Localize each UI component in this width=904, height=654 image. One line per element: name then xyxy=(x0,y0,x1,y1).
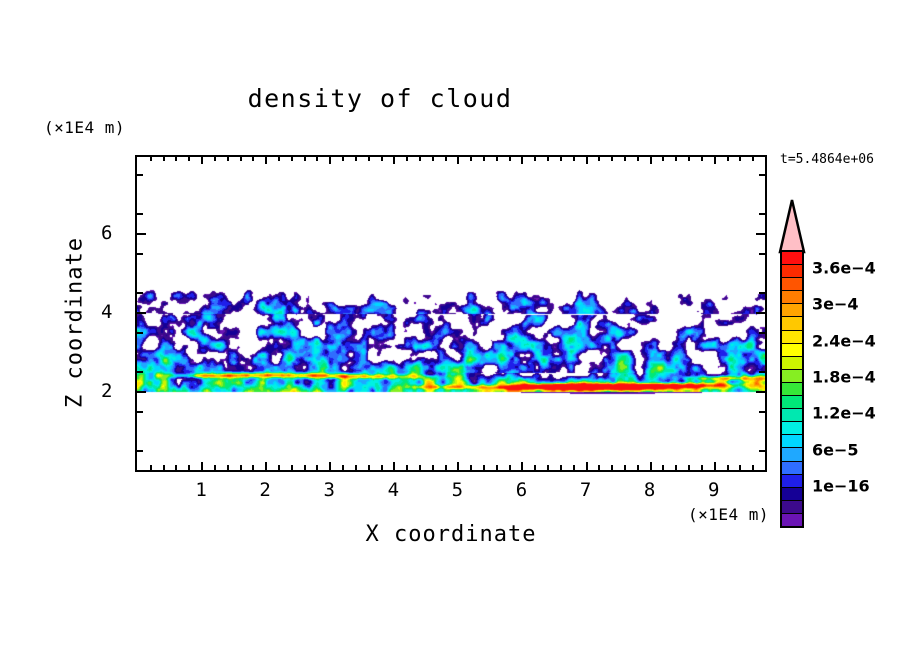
colorbar-band xyxy=(782,396,802,409)
x-tick-minor-top xyxy=(419,156,421,161)
x-tick-major xyxy=(714,462,716,471)
colorbar-band xyxy=(782,317,802,330)
x-tick-minor-top xyxy=(534,156,536,161)
colorbar-band xyxy=(782,331,802,344)
x-tick-major xyxy=(457,462,459,471)
x-tick-major-top xyxy=(521,156,523,164)
x-tick-minor xyxy=(368,465,370,471)
y-tick-major xyxy=(137,391,146,393)
x-tick-minor xyxy=(304,465,306,471)
x-axis-title: X coordinate xyxy=(135,522,767,547)
y-tick-label: 2 xyxy=(101,380,112,402)
x-tick-minor-top xyxy=(432,156,434,161)
colorbar-band xyxy=(782,488,802,501)
x-tick-minor xyxy=(470,465,472,471)
x-tick-minor-top xyxy=(342,156,344,161)
x-tick-minor xyxy=(381,465,383,471)
x-tick-minor-top xyxy=(278,156,280,161)
y-tick-minor-right xyxy=(759,371,765,373)
colorbar-band xyxy=(782,448,802,461)
x-tick-minor-top xyxy=(381,156,383,161)
y-tick-minor-right xyxy=(759,332,765,334)
x-tick-label: 8 xyxy=(644,479,655,501)
x-tick-minor xyxy=(252,465,254,471)
x-tick-minor-top xyxy=(252,156,254,161)
x-tick-minor-top xyxy=(291,156,293,161)
x-tick-minor xyxy=(445,465,447,471)
x-tick-minor xyxy=(701,465,703,471)
x-tick-minor-top xyxy=(662,156,664,161)
x-tick-minor-top xyxy=(573,156,575,161)
x-tick-major-top xyxy=(714,156,716,164)
x-tick-minor xyxy=(611,465,613,471)
x-tick-minor-top xyxy=(368,156,370,161)
x-tick-minor-top xyxy=(188,156,190,161)
x-tick-minor xyxy=(662,465,664,471)
colorbar-band xyxy=(782,462,802,475)
y-tick-minor xyxy=(137,213,143,215)
x-tick-minor xyxy=(496,465,498,471)
x-tick-minor-top xyxy=(214,156,216,161)
y-tick-minor xyxy=(137,253,143,255)
x-tick-minor xyxy=(355,465,357,471)
x-tick-major-top xyxy=(201,156,203,164)
x-tick-major xyxy=(393,462,395,471)
x-tick-minor-top xyxy=(624,156,626,161)
x-tick-minor-top xyxy=(611,156,613,161)
y-tick-minor xyxy=(137,332,143,334)
y-tick-minor-right xyxy=(759,174,765,176)
y-tick-minor xyxy=(137,450,143,452)
y-tick-minor xyxy=(137,371,143,373)
time-annotation: t=5.4864e+06 xyxy=(780,152,874,167)
x-tick-major-top xyxy=(393,156,395,164)
x-tick-major xyxy=(650,462,652,471)
colorbar-tick-label: 1.2e−4 xyxy=(812,404,876,423)
x-tick-major xyxy=(201,462,203,471)
x-tick-minor-top xyxy=(509,156,511,161)
x-tick-minor-top xyxy=(240,156,242,161)
x-tick-minor xyxy=(163,465,165,471)
x-tick-major xyxy=(586,462,588,471)
x-tick-label: 7 xyxy=(580,479,591,501)
x-tick-major-top xyxy=(586,156,588,164)
x-tick-minor-top xyxy=(739,156,741,161)
y-tick-major-right xyxy=(756,391,765,393)
figure-canvas: density of cloud (×1E4 m) (×1E4 m) t=5.4… xyxy=(0,0,904,654)
y-tick-minor xyxy=(137,174,143,176)
y-tick-major xyxy=(137,312,146,314)
colorbar-tick-label: 3e−4 xyxy=(812,295,859,314)
x-tick-major xyxy=(521,462,523,471)
colorbar-band xyxy=(782,357,802,370)
x-tick-minor-top xyxy=(445,156,447,161)
colorbar-tick-label: 3.6e−4 xyxy=(812,259,876,278)
x-tick-minor-top xyxy=(316,156,318,161)
x-tick-minor xyxy=(419,465,421,471)
x-tick-minor-top xyxy=(560,156,562,161)
x-tick-minor-top xyxy=(752,156,754,161)
plot-area xyxy=(135,155,767,472)
x-tick-minor-top xyxy=(406,156,408,161)
x-tick-minor xyxy=(188,465,190,471)
x-tick-minor xyxy=(509,465,511,471)
x-tick-minor xyxy=(483,465,485,471)
x-tick-minor-top xyxy=(598,156,600,161)
colorbar-band xyxy=(782,409,802,422)
y-tick-minor xyxy=(137,411,143,413)
x-tick-major xyxy=(265,462,267,471)
x-tick-minor-top xyxy=(175,156,177,161)
x-tick-minor xyxy=(727,465,729,471)
x-tick-minor xyxy=(573,465,575,471)
contour-plot xyxy=(137,157,765,470)
x-tick-label: 1 xyxy=(195,479,206,501)
colorbar-overflow-cap-icon xyxy=(778,198,806,254)
x-tick-minor-top xyxy=(163,156,165,161)
colorbar-tick-label: 1.8e−4 xyxy=(812,368,876,387)
x-tick-minor xyxy=(624,465,626,471)
x-tick-minor-top xyxy=(701,156,703,161)
colorbar-tick-label: 2.4e−4 xyxy=(812,331,876,350)
y-tick-major xyxy=(137,233,146,235)
y-tick-minor-right xyxy=(759,411,765,413)
y-tick-major-right xyxy=(756,312,765,314)
x-tick-label: 2 xyxy=(259,479,270,501)
colorbar-band xyxy=(782,252,802,265)
x-tick-major-top xyxy=(457,156,459,164)
colorbar-bands xyxy=(780,250,804,528)
colorbar-band xyxy=(782,265,802,278)
x-tick-minor-top xyxy=(496,156,498,161)
y-tick-minor xyxy=(137,292,143,294)
x-tick-minor xyxy=(278,465,280,471)
x-tick-minor xyxy=(227,465,229,471)
x-tick-minor xyxy=(547,465,549,471)
x-tick-minor-top xyxy=(150,156,152,161)
x-tick-minor xyxy=(752,465,754,471)
x-tick-major-top xyxy=(650,156,652,164)
x-tick-minor-top xyxy=(227,156,229,161)
colorbar-tick-label: 1e−16 xyxy=(812,476,870,495)
x-tick-label: 5 xyxy=(452,479,463,501)
x-tick-minor xyxy=(534,465,536,471)
x-tick-minor xyxy=(560,465,562,471)
x-tick-minor-top xyxy=(637,156,639,161)
x-tick-minor xyxy=(406,465,408,471)
y-axis-title: Z coordinate xyxy=(63,223,88,423)
y-tick-minor-right xyxy=(759,213,765,215)
y-tick-label: 6 xyxy=(101,222,112,244)
x-tick-minor xyxy=(240,465,242,471)
x-tick-minor xyxy=(291,465,293,471)
x-tick-minor-top xyxy=(483,156,485,161)
y-tick-minor-right xyxy=(759,253,765,255)
x-tick-minor xyxy=(150,465,152,471)
colorbar-band xyxy=(782,304,802,317)
x-tick-label: 6 xyxy=(516,479,527,501)
x-tick-minor xyxy=(342,465,344,471)
x-tick-label: 3 xyxy=(324,479,335,501)
x-tick-minor-top xyxy=(304,156,306,161)
x-tick-minor xyxy=(175,465,177,471)
page-title: density of cloud xyxy=(0,84,760,113)
x-tick-minor xyxy=(637,465,639,471)
colorbar-band xyxy=(782,475,802,488)
colorbar-band xyxy=(782,278,802,291)
x-tick-minor-top xyxy=(470,156,472,161)
x-tick-minor xyxy=(598,465,600,471)
colorbar-band xyxy=(782,435,802,448)
colorbar-band xyxy=(782,291,802,304)
x-tick-minor xyxy=(675,465,677,471)
x-tick-minor-top xyxy=(675,156,677,161)
x-tick-label: 4 xyxy=(388,479,399,501)
y-tick-major-right xyxy=(756,233,765,235)
x-tick-major xyxy=(329,462,331,471)
x-tick-minor xyxy=(688,465,690,471)
x-tick-minor xyxy=(214,465,216,471)
colorbar-tick-label: 6e−5 xyxy=(812,440,859,459)
colorbar-band xyxy=(782,383,802,396)
x-tick-major-top xyxy=(265,156,267,164)
colorbar-band xyxy=(782,422,802,435)
colorbar-band xyxy=(782,370,802,383)
x-tick-minor xyxy=(316,465,318,471)
x-tick-minor-top xyxy=(355,156,357,161)
y-tick-label: 4 xyxy=(101,301,112,323)
x-tick-minor xyxy=(739,465,741,471)
x-tick-minor xyxy=(432,465,434,471)
x-tick-label: 9 xyxy=(708,479,719,501)
colorbar-band xyxy=(782,514,802,526)
colorbar-band xyxy=(782,501,802,514)
y-tick-minor-right xyxy=(759,292,765,294)
y-axis-unit-label: (×1E4 m) xyxy=(44,118,125,137)
x-tick-major-top xyxy=(329,156,331,164)
y-tick-minor-right xyxy=(759,450,765,452)
x-tick-minor-top xyxy=(727,156,729,161)
x-tick-minor-top xyxy=(547,156,549,161)
x-tick-minor-top xyxy=(688,156,690,161)
colorbar-band xyxy=(782,344,802,357)
